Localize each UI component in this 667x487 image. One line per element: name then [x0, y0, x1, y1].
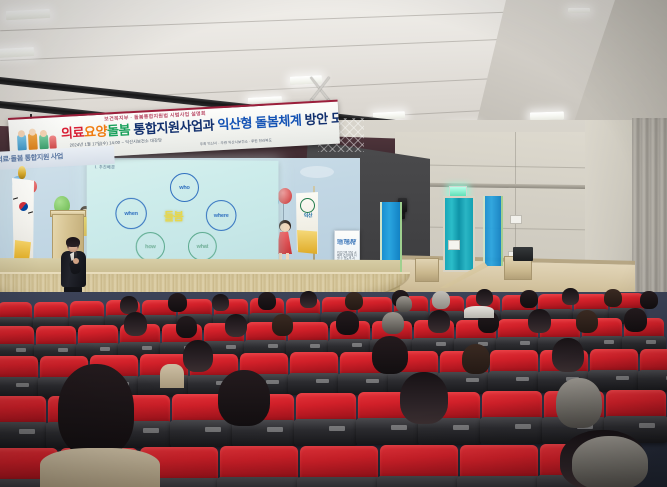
- audience-shoulders-foreground: [40, 448, 160, 487]
- seat[interactable]: [380, 445, 458, 487]
- slide-bubble-how: how: [136, 232, 165, 261]
- audience-head: [168, 293, 187, 312]
- wooden-bench: [415, 258, 439, 282]
- audience-head: [520, 290, 538, 308]
- door-notice: [448, 240, 460, 250]
- slide-bubble-label: where: [214, 213, 229, 219]
- ceiling-light-panel: [568, 8, 590, 13]
- seat[interactable]: [0, 396, 46, 448]
- audience-head: [396, 296, 412, 312]
- slide-bubble-label: who: [179, 184, 189, 190]
- slide-bubble-what: what: [188, 232, 217, 261]
- audience-shoulders: [464, 306, 494, 318]
- slide-bubble-when: when: [115, 198, 146, 229]
- auditorium-photo: Ⅰ. 추진배경 who when where how what 돌봄 보건복지부…: [0, 0, 667, 487]
- seat[interactable]: [300, 446, 378, 487]
- audience-head: [432, 291, 450, 309]
- mural-cloud: [300, 166, 334, 178]
- audience-head: [212, 294, 229, 311]
- standee-headline: 의료·돌봄 통합지원 시범사업: [337, 239, 357, 249]
- city-flag-text: 익산: [298, 211, 318, 219]
- projection-screen: Ⅰ. 추진배경 who when where how what 돌봄: [87, 159, 279, 269]
- audience-head: [528, 309, 551, 333]
- balloon-cluster-red2: [278, 188, 292, 204]
- audience-head: [428, 310, 450, 333]
- seat[interactable]: [490, 350, 538, 392]
- slide-bubble-label: when: [124, 210, 137, 216]
- slide-center-label: 돌봄: [164, 208, 183, 224]
- audience-head: [462, 344, 490, 374]
- slide-header: Ⅰ. 추진배경: [95, 164, 115, 170]
- banner-title-part: 방안 모색: [301, 110, 340, 128]
- audience-head: [258, 292, 276, 310]
- audience-head: [345, 292, 363, 310]
- banner-title-part: 돌봄: [107, 122, 131, 138]
- seat[interactable]: [482, 391, 542, 443]
- banner-title-part: 통합지원사업: [130, 118, 203, 137]
- flagpole-finial: [18, 166, 26, 179]
- slide-bubble-where: where: [206, 200, 237, 231]
- audience-head: [272, 314, 293, 336]
- presenter-hair: [66, 237, 80, 247]
- audience-head-foreground: [572, 436, 648, 487]
- audience-head-foreground: [556, 378, 602, 428]
- seat[interactable]: [0, 356, 38, 398]
- audience-head: [640, 291, 658, 309]
- audience-head: [300, 291, 317, 308]
- audience-head-foreground: [218, 370, 270, 426]
- audience-head: [552, 338, 584, 372]
- dark-equipment-case: [513, 247, 533, 261]
- secondary-banner-text: 의료·돌봄 통합지원 사업: [0, 151, 63, 164]
- audience-head: [124, 312, 147, 336]
- audience-head: [576, 310, 598, 333]
- audience-head: [225, 314, 247, 337]
- audience-head: [336, 311, 359, 335]
- teal-double-door[interactable]: [443, 196, 475, 272]
- audience-head: [624, 308, 647, 332]
- audience-head: [183, 340, 213, 372]
- seat[interactable]: [290, 352, 338, 394]
- audience-shoulders: [160, 364, 184, 388]
- city-flag-gold-drape: [297, 230, 317, 254]
- slide-bubble-who: who: [170, 173, 199, 202]
- audience-head: [476, 289, 493, 306]
- seat[interactable]: [590, 349, 638, 391]
- banner-title-part: 과: [202, 117, 218, 133]
- folding-partition: [632, 118, 667, 318]
- audience-head: [382, 312, 404, 334]
- seat[interactable]: [296, 393, 356, 445]
- seat[interactable]: [460, 445, 538, 487]
- slide-bubble-label: how: [145, 244, 156, 250]
- audience-head: [604, 289, 622, 307]
- slide-bubble-label: what: [197, 243, 209, 249]
- audience-head: [176, 316, 197, 338]
- wall-sign: [510, 215, 522, 224]
- banner-title-part: 요양: [84, 123, 108, 139]
- presenter-hand: [73, 258, 79, 264]
- seat[interactable]: [640, 349, 667, 391]
- banner-title-part: 의료: [61, 125, 85, 141]
- audience-head: [372, 336, 408, 374]
- audience-head-foreground: [400, 372, 448, 424]
- seat[interactable]: [220, 446, 298, 487]
- audience-head-foreground: [58, 364, 134, 456]
- audience-head: [562, 288, 579, 305]
- blue-door-far-right[interactable]: [483, 196, 503, 266]
